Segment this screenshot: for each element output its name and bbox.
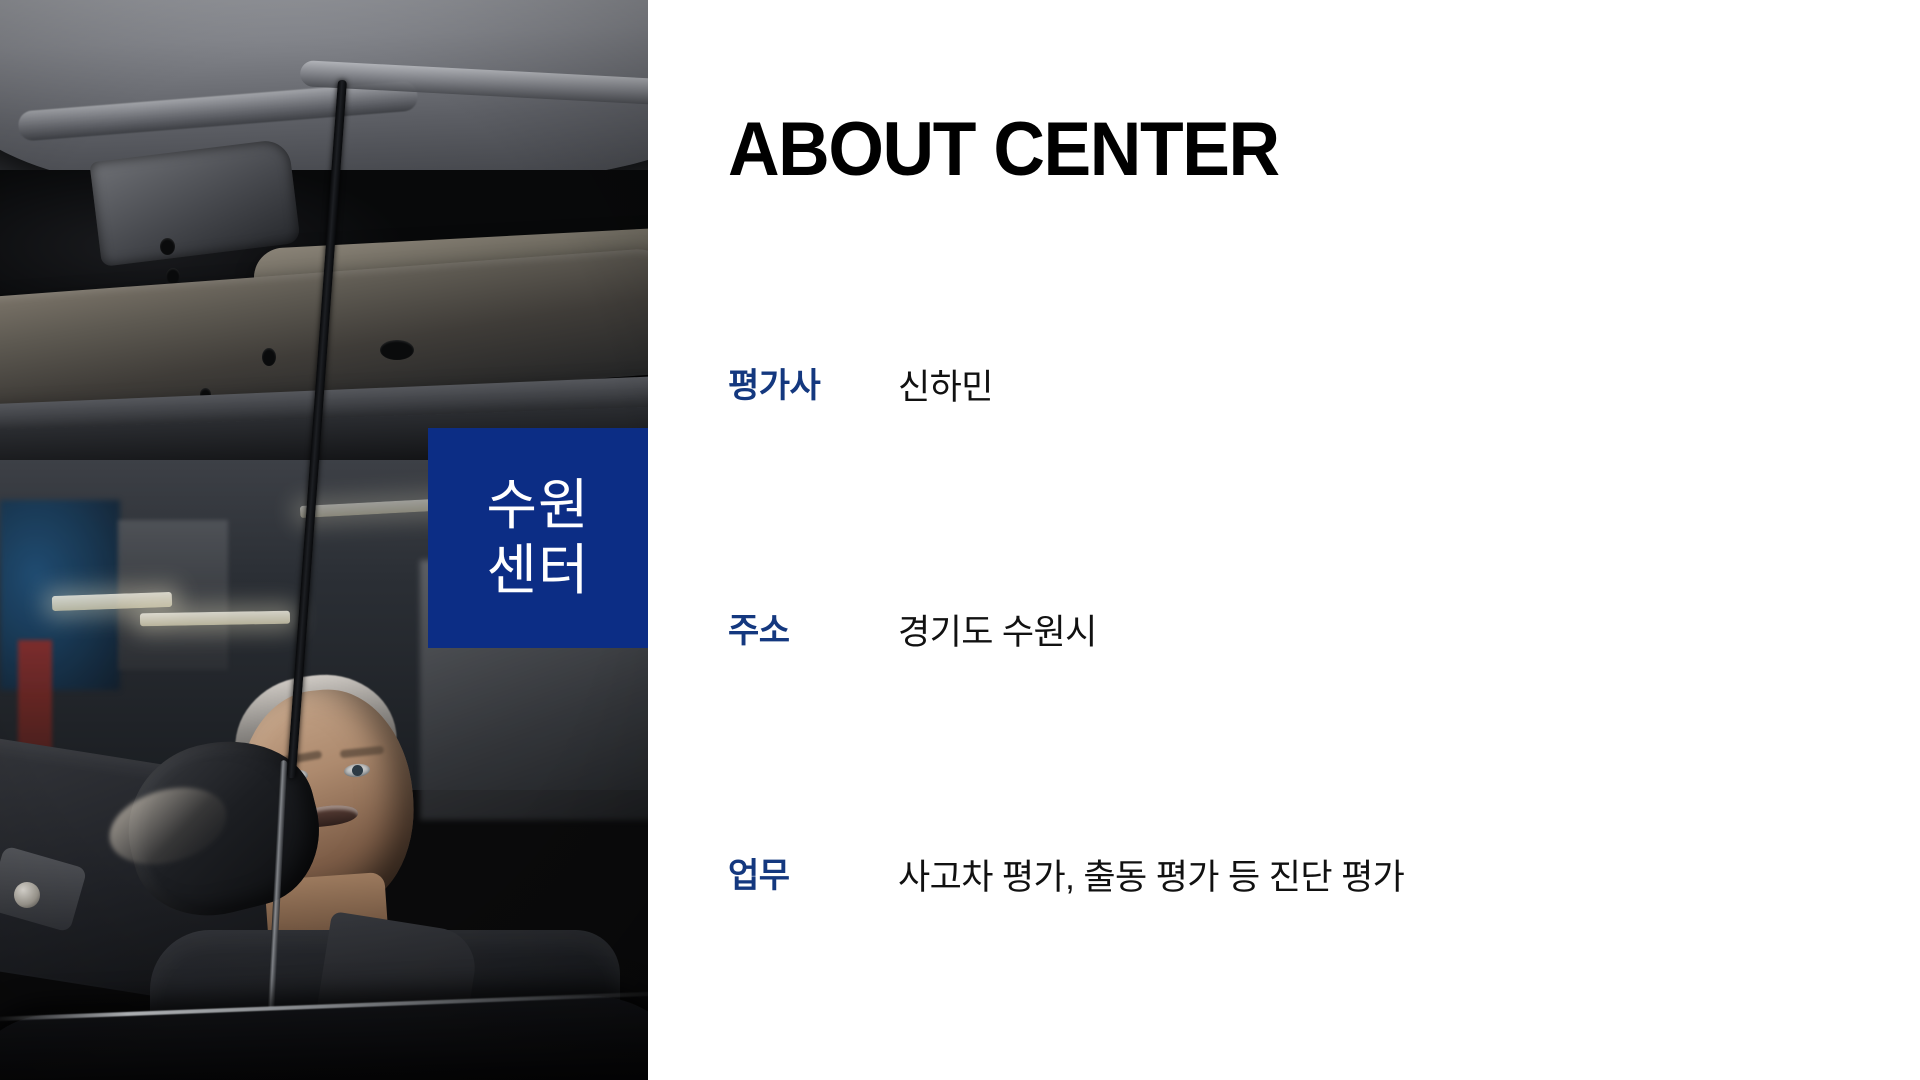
info-label-duties: 업무 bbox=[728, 848, 903, 897]
info-label-evaluator: 평가사 bbox=[728, 358, 903, 407]
center-name-badge: 수원 센터 bbox=[428, 428, 648, 648]
page-title: ABOUT CENTER bbox=[728, 112, 1279, 188]
crossmember-hole-2 bbox=[380, 340, 414, 360]
mechanic-sleeve-button bbox=[14, 882, 40, 908]
mechanic-pupil-right bbox=[352, 765, 363, 776]
info-value-duties: 사고차 평가, 출동 평가 등 진단 평가 bbox=[898, 849, 1404, 900]
info-value-evaluator: 신하민 bbox=[898, 359, 993, 410]
center-badge-line-1: 수원 bbox=[486, 473, 589, 538]
garage-light-2 bbox=[140, 611, 290, 627]
center-info-table: 평가사 신하민 주소 경기도 수원시 업무 사고차 평가, 출동 평가 등 진단… bbox=[728, 358, 1828, 848]
slide-about-center: 수원 센터 ABOUT CENTER 평가사 신하민 주소 경기도 수원시 업무… bbox=[0, 0, 1920, 1080]
hero-photo: 수원 센터 bbox=[0, 0, 648, 1080]
garage-red-toolbox bbox=[18, 640, 52, 750]
info-label-address: 주소 bbox=[728, 603, 903, 652]
info-row-evaluator: 평가사 신하민 bbox=[728, 358, 1828, 603]
bracket-hole-2 bbox=[166, 268, 180, 284]
content-panel: ABOUT CENTER 평가사 신하민 주소 경기도 수원시 업무 사고차 평… bbox=[648, 0, 1920, 1080]
crossmember-hole-1 bbox=[262, 348, 276, 366]
info-value-address: 경기도 수원시 bbox=[898, 604, 1097, 655]
bracket-hole-1 bbox=[160, 238, 175, 255]
center-badge-line-2: 센터 bbox=[486, 538, 589, 603]
info-row-address: 주소 경기도 수원시 bbox=[728, 603, 1828, 848]
